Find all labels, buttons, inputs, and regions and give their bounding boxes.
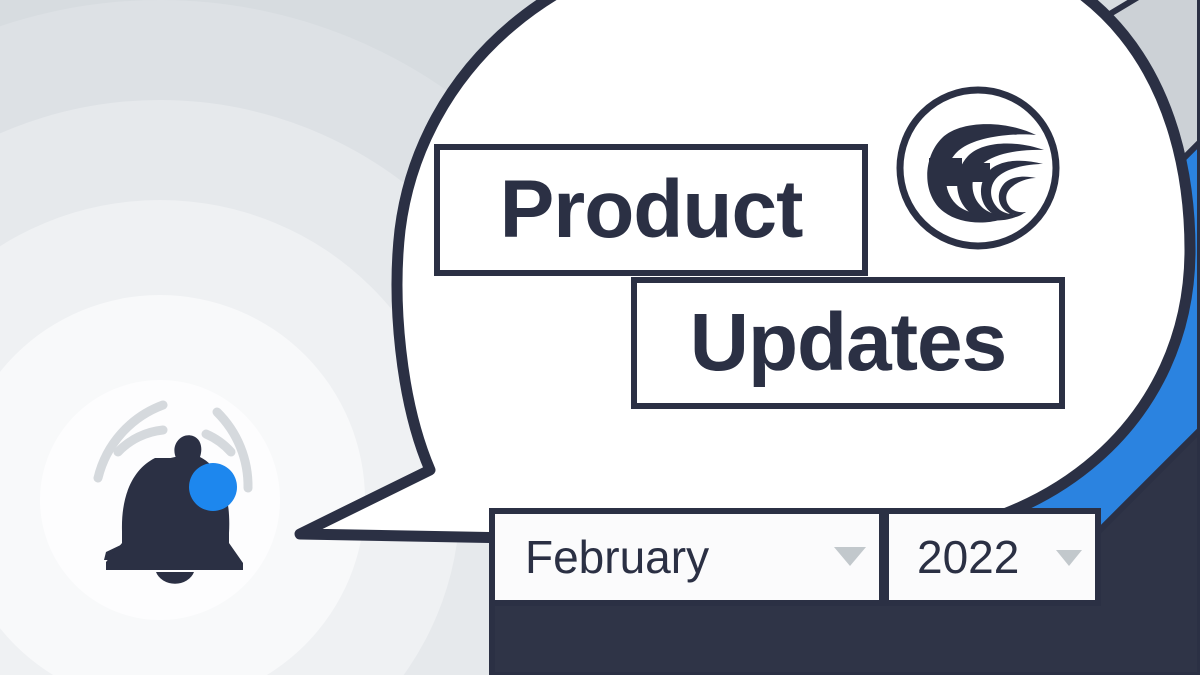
notification-dot-icon [189, 463, 237, 511]
brand-logo-badge [900, 90, 1056, 246]
month-select-label[interactable]: February [492, 511, 882, 603]
page-title-line-2: Updates [634, 280, 1062, 406]
page-title-line-1: Product [437, 147, 865, 273]
chevron-down-icon-year[interactable] [1056, 550, 1082, 566]
product-updates-banner: Product Updates February 2022 [0, 0, 1200, 675]
chevron-down-icon-month[interactable] [834, 547, 866, 566]
